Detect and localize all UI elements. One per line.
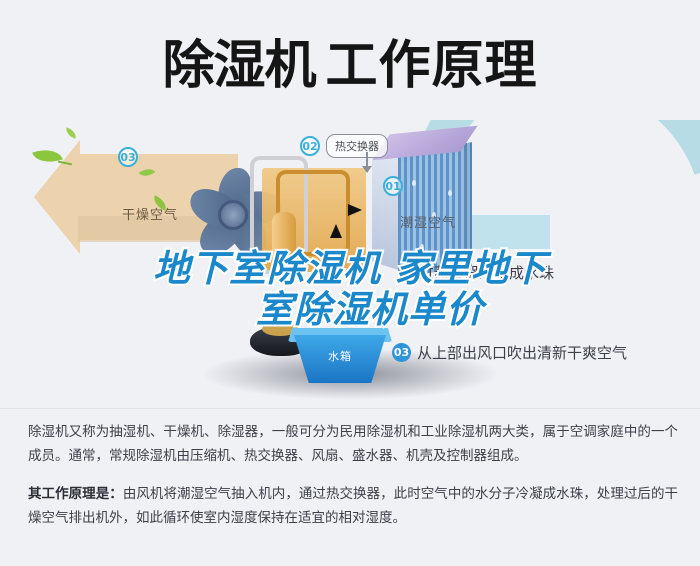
step-line-02: 经过蒸发器冷凝成水珠 [404,262,554,283]
page-title-part-b: 工作原理 [326,36,538,96]
water-droplet-icon [448,190,452,196]
illustration-stage: 水箱 03 02 01 热交换器 干燥空气 潮湿空气 经过蒸发器冷凝成水珠 03… [0,120,700,405]
flow-arrow-right-icon [348,204,362,216]
badge-02-heat-exchanger: 02 [300,136,320,156]
humid-air-label: 潮湿空气 [400,212,456,231]
fan-hub-icon [218,200,248,230]
page-title-bar: 除湿机工作原理 [0,0,700,120]
callout-pointer-icon [366,152,368,168]
body-paragraph-2-lead: 其工作原理是： [28,486,123,502]
page-title: 除湿机工作原理 [162,23,537,98]
heat-exchanger-callout: 热交换器 [326,134,388,158]
water-droplet-icon [412,180,416,186]
body-paragraph-2-rest: 由风机将潮湿空气抽入机内，通过热交换器，此时空气中的水分子冷凝成水珠，处理过后的… [28,486,678,526]
compressor-cylinder-icon [272,212,296,266]
leaf-icon [64,127,78,139]
badge-01-humid-air: 01 [383,176,403,196]
dry-air-label: 干燥空气 [122,204,178,223]
page-title-part-a: 除湿机 [162,36,315,96]
content-divider [0,408,700,409]
flow-arrow-up-icon [330,224,342,238]
step-02-text: 经过蒸发器冷凝成水珠 [404,262,554,283]
body-paragraph-1: 除湿机又称为抽湿机、干燥机、除湿器，一般可分为民用除湿机和工业除湿机两大类，属于… [28,420,678,468]
heat-exchanger-side-panel [372,149,400,270]
badge-03-dry-air: 03 [118,147,138,167]
heat-exchanger-fins-icon [398,142,472,278]
body-copy: 除湿机又称为抽湿机、干燥机、除湿器，一般可分为民用除湿机和工业除湿机两大类，属于… [28,420,678,544]
step-03-badge: 03 [392,343,411,362]
water-droplet-icon [420,244,424,250]
water-tank-label: 水箱 [294,348,386,364]
body-paragraph-2: 其工作原理是：由风机将潮湿空气抽入机内，通过热交换器，此时空气中的水分子冷凝成水… [28,482,678,530]
step-line-03: 03 从上部出风口吹出清新干爽空气 [392,342,627,363]
step-03-text: 从上部出风口吹出清新干爽空气 [417,342,627,363]
